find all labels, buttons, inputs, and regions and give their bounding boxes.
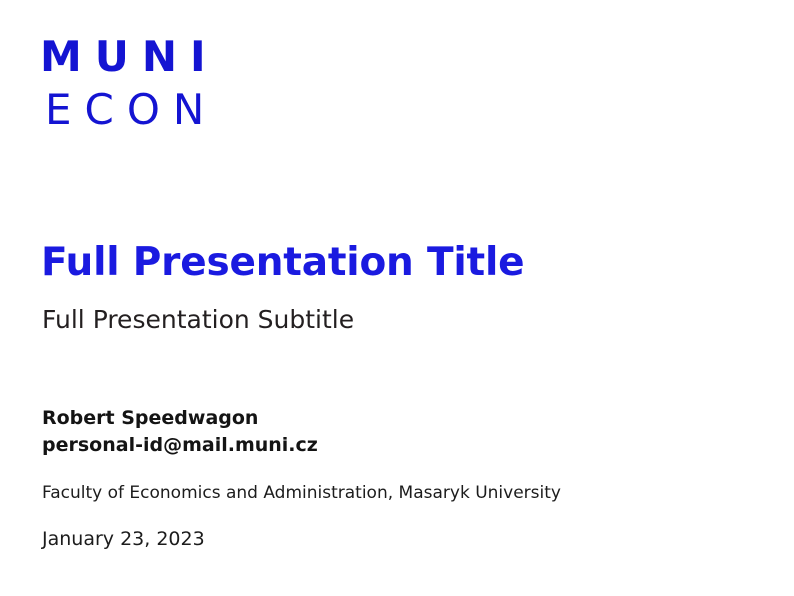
author-email: personal-id@mail.muni.cz	[42, 432, 318, 459]
presentation-title: Full Presentation Title	[41, 243, 524, 284]
logo-wordmark-muni: MUNI	[40, 36, 300, 78]
title-slide: MUNI ECON Full Presentation Title Full P…	[0, 0, 794, 596]
muni-econ-logo: MUNI ECON	[40, 36, 300, 131]
presentation-subtitle: Full Presentation Subtitle	[42, 306, 354, 334]
author-name: Robert Speedwagon	[42, 405, 318, 432]
affiliation-line: Faculty of Economics and Administration,…	[42, 483, 561, 503]
presentation-date: January 23, 2023	[42, 528, 205, 550]
logo-wordmark-econ: ECON	[45, 89, 300, 131]
author-block: Robert Speedwagon personal-id@mail.muni.…	[42, 405, 318, 459]
